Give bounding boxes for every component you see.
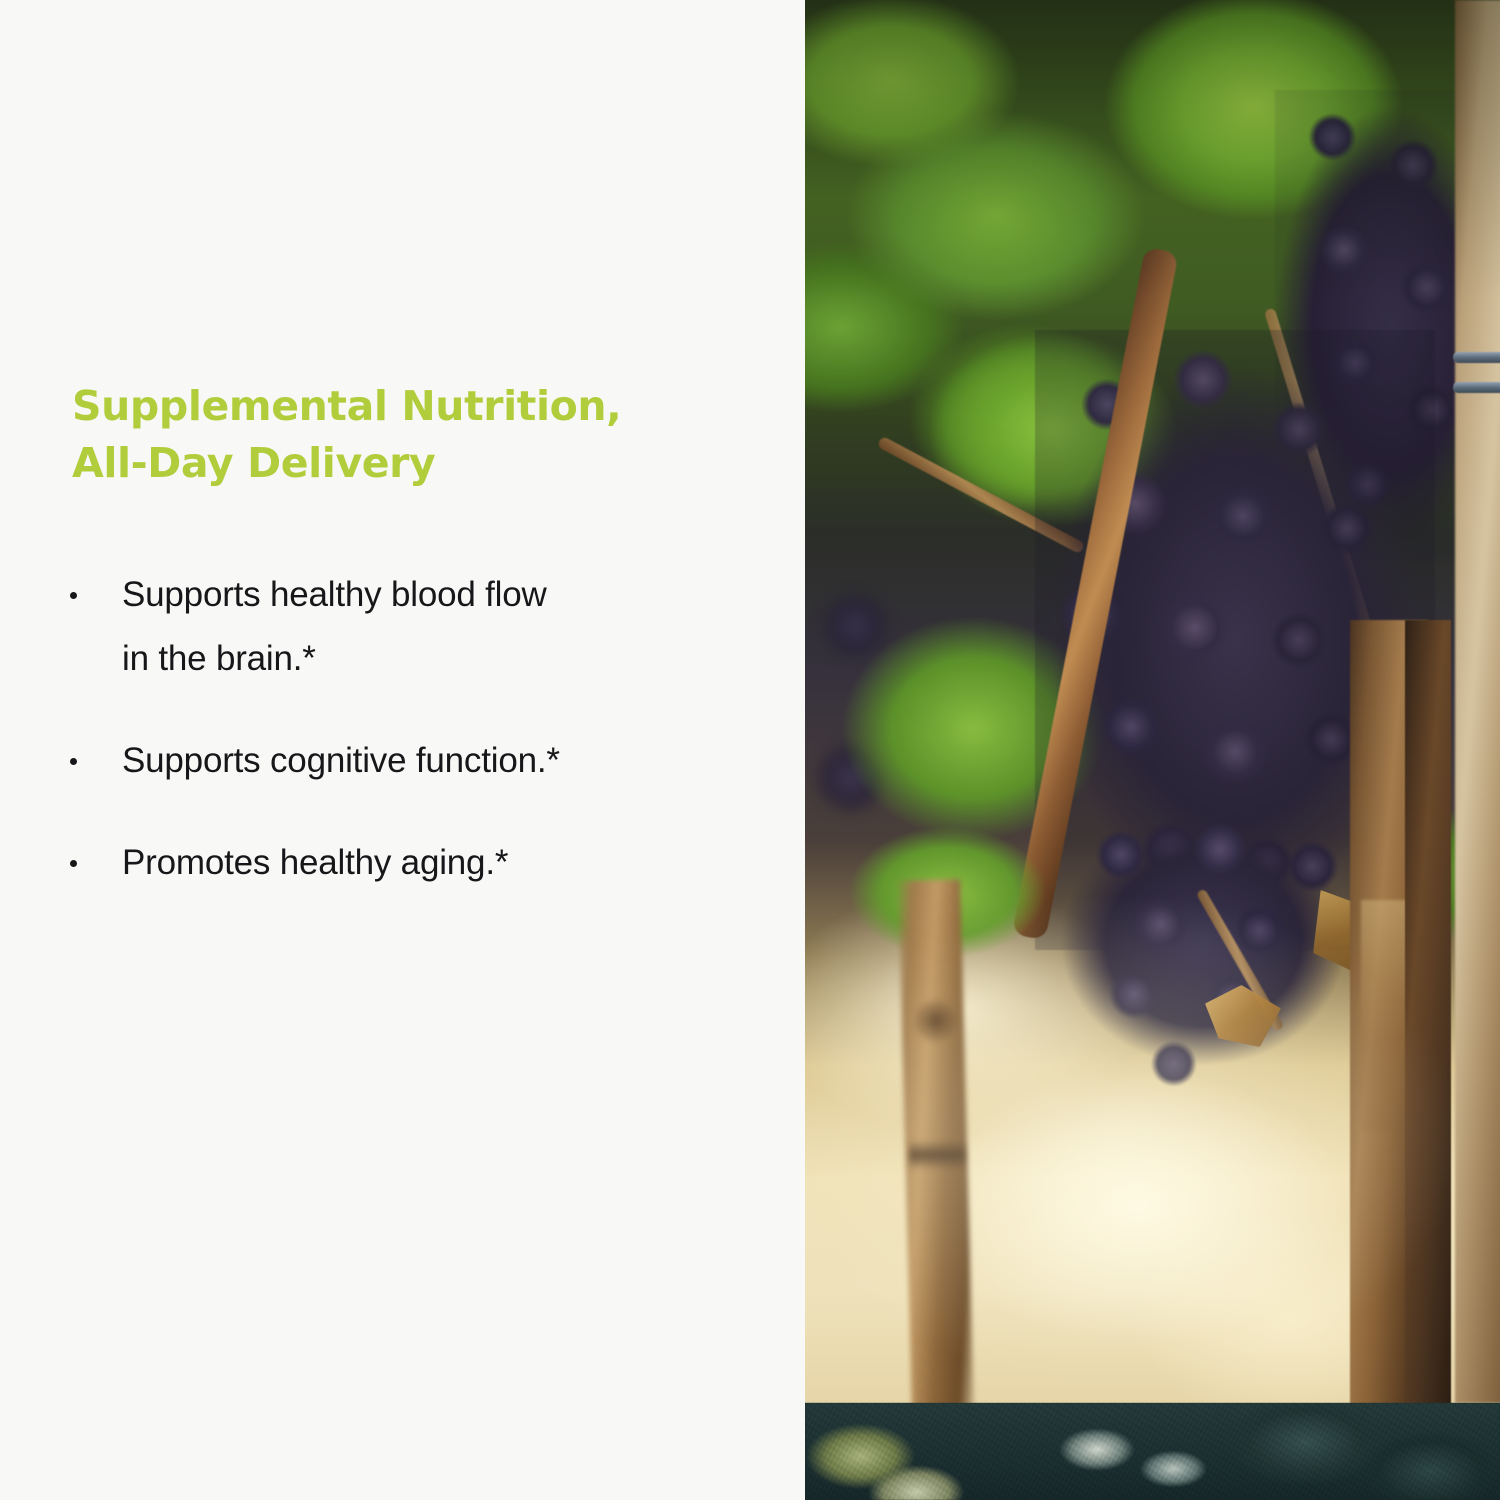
vine-trunk-right-dark bbox=[1405, 620, 1451, 1403]
page-title: Supplemental Nutrition, All-Day Delivery bbox=[72, 378, 712, 492]
vineyard-photo bbox=[805, 0, 1500, 1403]
vine-trunk-left-band bbox=[909, 1140, 965, 1170]
bullet-dot-icon bbox=[70, 592, 77, 599]
rock-grain-overlay bbox=[805, 1403, 1500, 1500]
benefit-line-1: Supports cognitive function.* bbox=[122, 729, 762, 793]
benefits-list: Supports healthy blood flow in the brain… bbox=[62, 563, 762, 895]
benefit-text: Supports cognitive function.* bbox=[122, 729, 762, 793]
trellis-wire-lower bbox=[1453, 382, 1500, 393]
benefit-text: Supports healthy blood flow in the brain… bbox=[122, 563, 762, 691]
headline-line-1: Supplemental Nutrition, bbox=[72, 378, 712, 435]
rock-texture-strip bbox=[805, 1403, 1500, 1500]
list-item: Supports cognitive function.* bbox=[62, 729, 762, 793]
benefit-line-1: Promotes healthy aging.* bbox=[122, 831, 762, 895]
vineyard-post bbox=[1455, 0, 1500, 1403]
grape-cluster-hanging bbox=[1055, 820, 1385, 1110]
list-item: Promotes healthy aging.* bbox=[62, 831, 762, 895]
trellis-wire-upper bbox=[1453, 352, 1500, 363]
photo-panel bbox=[805, 0, 1500, 1500]
vine-trunk-left-knot bbox=[915, 1000, 957, 1042]
text-panel: Supplemental Nutrition, All-Day Delivery… bbox=[0, 0, 805, 1500]
product-feature-panel: Supplemental Nutrition, All-Day Delivery… bbox=[0, 0, 1500, 1500]
benefit-line-1: Supports healthy blood flow bbox=[122, 563, 762, 627]
benefit-text: Promotes healthy aging.* bbox=[122, 831, 762, 895]
bullet-dot-icon bbox=[70, 758, 77, 765]
headline-line-2: All-Day Delivery bbox=[72, 435, 712, 492]
benefit-line-2: in the brain.* bbox=[122, 627, 762, 691]
bullet-dot-icon bbox=[70, 860, 77, 867]
list-item: Supports healthy blood flow in the brain… bbox=[62, 563, 762, 691]
vine-trunk-right-bark bbox=[1361, 900, 1409, 1130]
